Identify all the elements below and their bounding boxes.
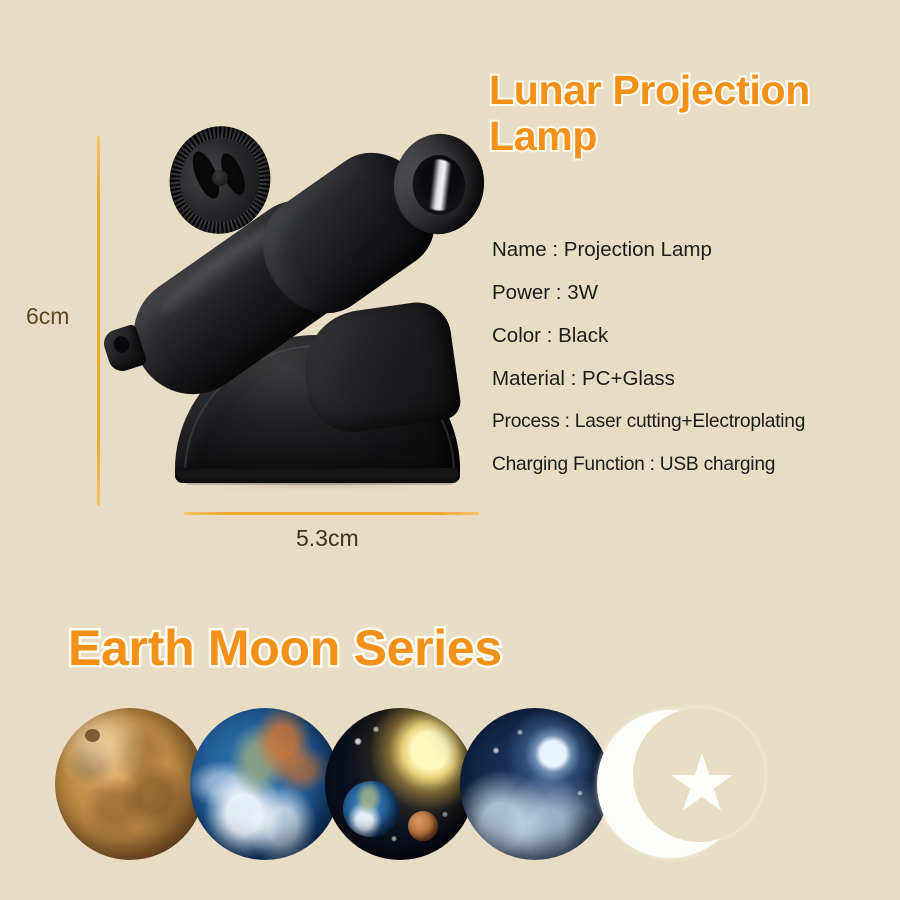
product-infographic: Lunar Projection Lamp Name : Projection … (0, 0, 900, 900)
projection-blue-earth (190, 708, 340, 860)
height-dimension-label: 6cm (26, 303, 69, 330)
projection-sun-earth-planet-space-scene (325, 708, 475, 860)
spec-row-charging-function: Charging Function : USB charging (492, 443, 892, 486)
projection-golden-full-moon (55, 708, 205, 860)
projection-lamp-photo (100, 110, 500, 520)
projection-night-sky-moon-clouds (460, 708, 610, 860)
earth-icon (343, 781, 399, 837)
projection-crescent-moon-and-star (595, 708, 745, 860)
lamp-swivel-yoke (297, 298, 462, 438)
spec-row-color: Color : Black (492, 314, 892, 357)
spec-row-name: Name : Projection Lamp (492, 228, 892, 271)
spec-row-power: Power : 3W (492, 271, 892, 314)
lamp-base-foot (177, 468, 458, 483)
series-title: Earth Moon Series (68, 620, 688, 676)
specification-list: Name : Projection Lamp Power : 3W Color … (492, 228, 892, 486)
small-planet-icon (408, 811, 438, 841)
page-title: Lunar Projection Lamp (489, 68, 889, 160)
width-dimension-label: 5.3cm (296, 525, 359, 552)
focus-ring-hub (212, 170, 228, 186)
spec-row-material: Material : PC+Glass (492, 357, 892, 400)
spec-row-process: Process : Laser cutting+Electroplating (492, 400, 892, 443)
projection-thumbnail-row (0, 700, 900, 880)
crescent-moon-icon (597, 710, 743, 858)
